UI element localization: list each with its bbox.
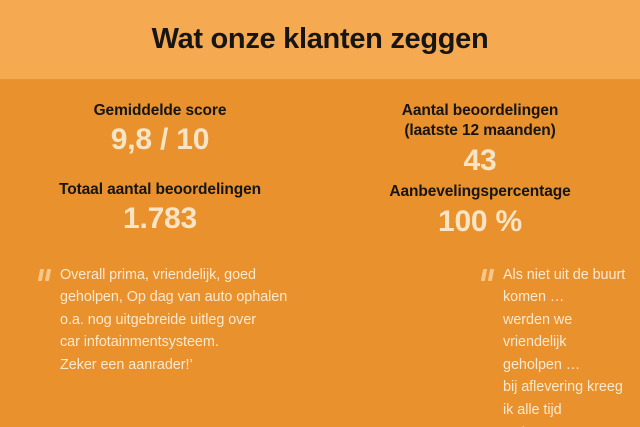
- customer-reviews-card: Wat onze klanten zeggen Gemiddelde score…: [0, 0, 640, 427]
- double-quote-icon: [38, 269, 55, 286]
- page-title: Wat onze klanten zeggen: [0, 0, 640, 79]
- stat-label: Gemiddelde score: [0, 101, 320, 121]
- stat-label: Aantal beoordelingen (laatste 12 maanden…: [320, 101, 640, 142]
- stat-total-reviews: Totaal aantal beoordelingen 1.783: [0, 180, 320, 237]
- stat-value: 43: [320, 143, 640, 178]
- testimonials-section: Overall prima, vriendelijk, goed geholpe…: [0, 263, 640, 403]
- testimonial-item: Als niet uit de buurt komen … werden we …: [145, 263, 640, 403]
- stat-value: 100 %: [320, 204, 640, 239]
- stat-reviews-last-12-months: Aantal beoordelingen (laatste 12 maanden…: [320, 101, 640, 178]
- stat-value: 1.783: [0, 201, 320, 236]
- stats-column-left: Gemiddelde score 9,8 / 10 Totaal aantal …: [0, 79, 320, 257]
- stat-average-score: Gemiddelde score 9,8 / 10: [0, 101, 320, 158]
- stat-label: Aanbevelingspercentage: [320, 182, 640, 202]
- stat-value: 9,8 / 10: [0, 122, 320, 157]
- stats-column-right: Aantal beoordelingen (laatste 12 maanden…: [320, 79, 640, 257]
- stats-section: Gemiddelde score 9,8 / 10 Totaal aantal …: [0, 79, 640, 257]
- double-quote-icon: [481, 269, 498, 286]
- stat-label: Totaal aantal beoordelingen: [0, 180, 320, 200]
- stat-recommendation-percentage: Aanbevelingspercentage 100 %: [320, 182, 640, 239]
- testimonial-text: Als niet uit de buurt komen … werden we …: [503, 263, 626, 403]
